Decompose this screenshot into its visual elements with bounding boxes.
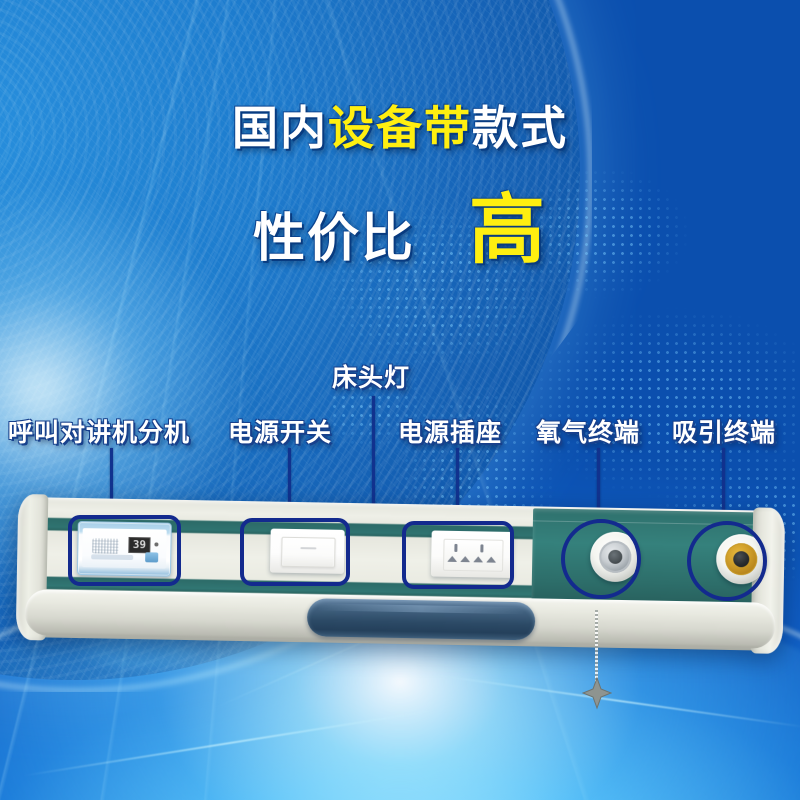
callout-label-bed-lamp: 床头灯	[332, 358, 410, 394]
headline-text-value-ratio: 性价比	[253, 209, 415, 269]
pull-cord[interactable]	[595, 610, 598, 682]
headline-line-1: 国内设备带款式	[0, 92, 800, 158]
highlight-circle-oxygen-terminal	[561, 519, 641, 599]
product-promo-image: 国内设备带款式 性价比高 呼叫对讲机分机 电源开关 床头灯 电源插座 氧气终端 …	[0, 0, 800, 800]
headline-line-2: 性价比高	[0, 168, 800, 278]
highlight-box-power-switch	[240, 518, 350, 586]
callout-label-suction-terminal: 吸引终端	[672, 413, 776, 449]
pull-cord-handle-icon[interactable]	[582, 676, 612, 710]
highlight-box-power-socket	[402, 521, 514, 589]
callout-label-intercom: 呼叫对讲机分机	[8, 413, 190, 449]
headline-text-high: 高	[469, 185, 547, 274]
highlight-circle-suction-terminal	[687, 521, 767, 601]
headline-text-equipment-belt: 设备带	[328, 101, 472, 155]
callout-label-power-socket: 电源插座	[398, 413, 502, 449]
bed-lamp-fixture	[307, 598, 536, 640]
highlight-box-intercom	[68, 515, 181, 586]
callout-label-oxygen-terminal: 氧气终端	[536, 413, 640, 449]
callout-label-power-switch: 电源开关	[228, 413, 332, 449]
headline-text-domestic: 国内	[232, 101, 328, 155]
headline-text-style: 款式	[472, 101, 568, 155]
